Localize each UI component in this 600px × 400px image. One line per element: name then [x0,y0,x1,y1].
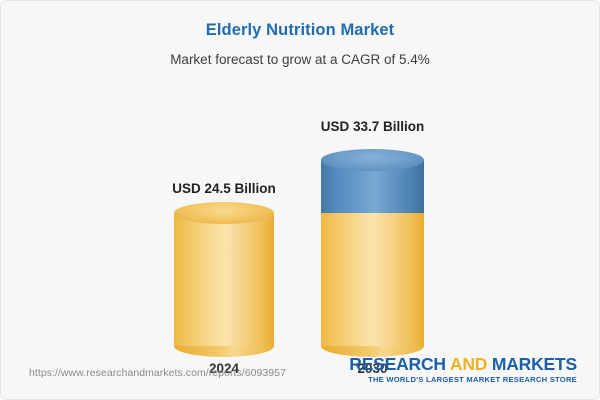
cylinder-body [174,213,274,346]
market-forecast-chart-card: Elderly Nutrition Market Market forecast… [0,0,600,400]
brand-word-research: RESEARCH [349,354,450,374]
brand-word-and: AND [450,354,487,374]
cylinder-2024 [174,213,274,346]
cylinder-top-ellipse [174,202,274,224]
bar-segment-base-2030 [321,213,424,346]
value-label-2024: USD 24.5 Billion [172,181,276,196]
bar-group-2030: USD 33.7 Billion 2030 [321,38,424,346]
plot-area: USD 24.5 Billion 2024 USD 33.7 Billion [1,1,600,346]
brand-logo[interactable]: RESEARCH AND MARKETS THE WORLD'S LARGEST… [349,355,577,384]
cylinder-body [321,213,424,346]
bar-group-2024: USD 24.5 Billion 2024 [174,38,274,346]
cylinder-2030 [321,160,424,346]
value-label-2030: USD 33.7 Billion [321,119,425,134]
report-url[interactable]: https://www.researchandmarkets.com/repor… [29,367,286,379]
bar-segment-growth-2030 [321,160,424,213]
bar-segment-base-2024 [174,213,274,346]
brand-tagline: THE WORLD'S LARGEST MARKET RESEARCH STOR… [349,375,577,384]
brand-wordmark: RESEARCH AND MARKETS [349,355,577,373]
footer: https://www.researchandmarkets.com/repor… [1,345,599,399]
cylinder-top-ellipse [321,149,424,171]
brand-word-markets: MARKETS [487,354,577,374]
